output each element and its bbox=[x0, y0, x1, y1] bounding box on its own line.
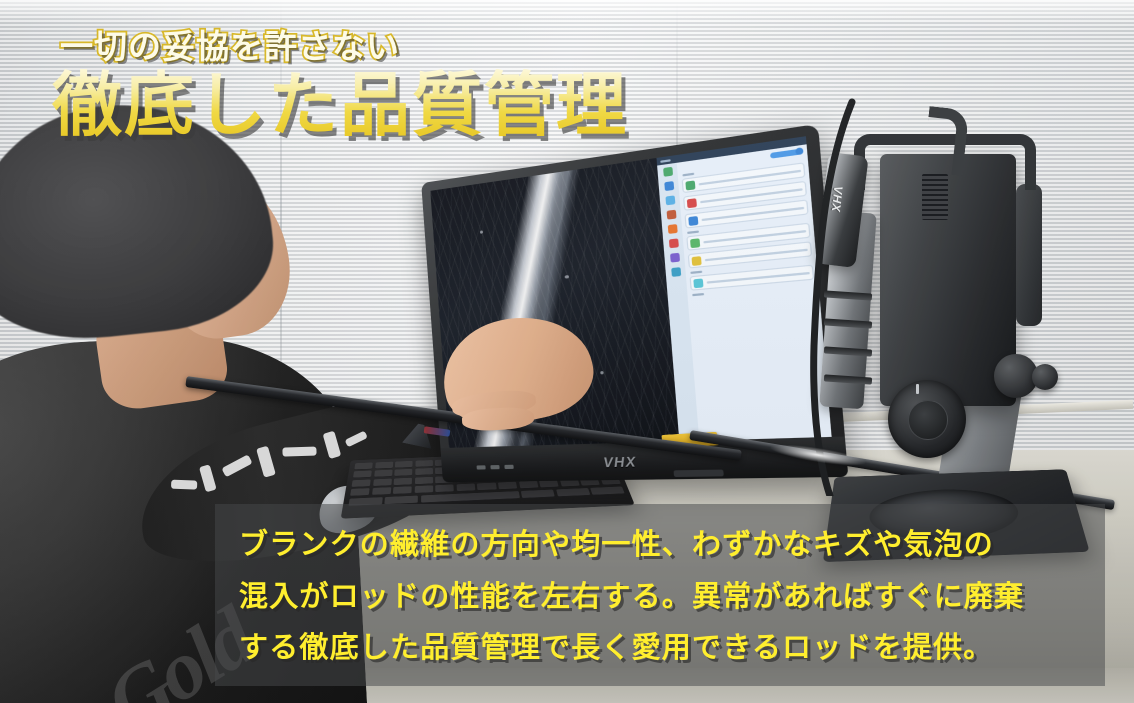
headline-kicker: 一切の妥協を許さない bbox=[60, 26, 680, 67]
rail-icon-6 bbox=[669, 238, 679, 248]
ui-section-label bbox=[692, 293, 704, 296]
microscope-dial bbox=[888, 380, 966, 458]
rail-icon-1 bbox=[663, 167, 673, 177]
rail-icon-3 bbox=[665, 195, 675, 205]
ui-section-label bbox=[687, 230, 699, 234]
promo-banner-image: Gold bbox=[0, 0, 1134, 703]
headline-block: 一切の妥協を許さない 徹底した品質管理 bbox=[0, 26, 680, 143]
camera-brand-label: VHX bbox=[829, 185, 846, 213]
caption-overlay: ブランクの繊維の方向や均一性、わずかなキズや気泡の 混入がロッドの性能を左右する… bbox=[215, 504, 1105, 686]
rail-icon-4 bbox=[666, 210, 676, 220]
microscope-fine-knob bbox=[1032, 364, 1058, 390]
digital-microscope: VHX bbox=[800, 96, 1090, 496]
rail-icon-5 bbox=[667, 224, 677, 234]
microscope-hook bbox=[923, 106, 970, 176]
ui-section-label bbox=[683, 173, 695, 177]
rail-icon-7 bbox=[670, 253, 680, 263]
caption-line-1: ブランクの繊維の方向や均一性、わずかなキズや気泡の bbox=[239, 520, 1081, 572]
ui-list-item bbox=[690, 265, 814, 291]
monitor-ports bbox=[477, 465, 514, 470]
caption-line-2: 混入がロッドの性能を左右する。異常があればすぐに廃棄 bbox=[239, 572, 1081, 624]
headline-title: 徹底した品質管理 bbox=[52, 69, 680, 143]
rail-icon-8 bbox=[671, 267, 681, 277]
rail-icon-2 bbox=[664, 181, 674, 191]
monitor-brand-logo: VHX bbox=[603, 453, 637, 470]
dial-index-mark bbox=[916, 384, 919, 394]
monitor-badge bbox=[673, 470, 723, 478]
caption-line-3: する徹底した品質管理で長く愛用できるロッドを提供。 bbox=[239, 623, 1081, 675]
ui-section-label bbox=[691, 271, 703, 274]
microscope-right-post bbox=[1016, 184, 1042, 326]
